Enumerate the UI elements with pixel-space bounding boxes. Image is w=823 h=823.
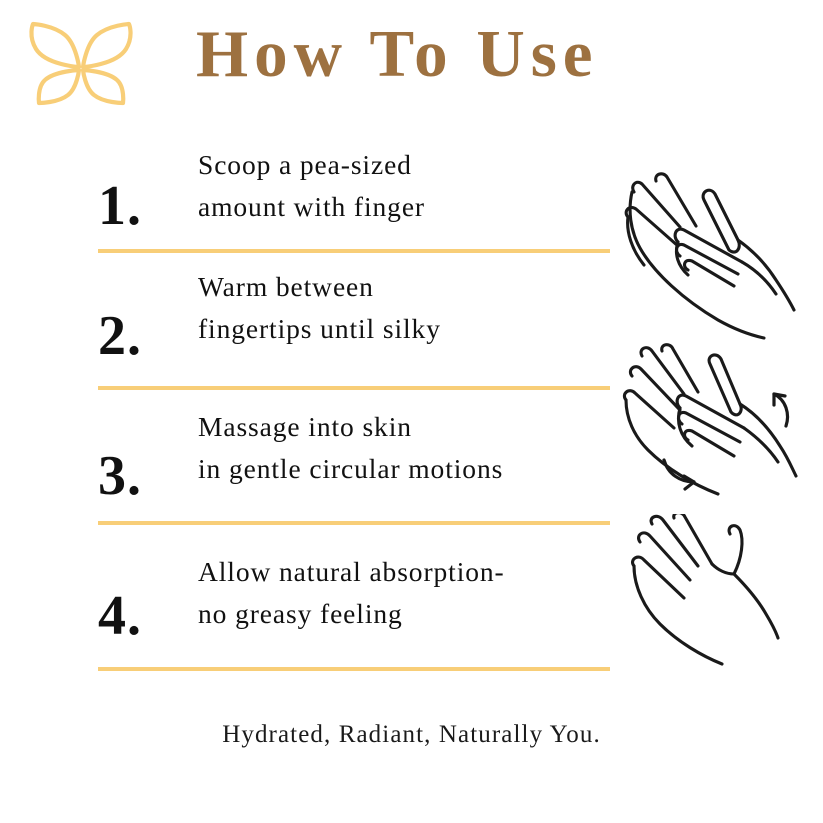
how-to-use-infographic: How To Use 1. Scoop a pea-sized amount w… — [0, 0, 823, 823]
step-text-line2: no greasy feeling — [198, 593, 505, 635]
open-hand-absorbed-icon — [618, 514, 818, 686]
page-title: How To Use — [196, 21, 599, 88]
step-text: Scoop a pea-sized amount with finger — [198, 144, 425, 228]
step-text-line1: Scoop a pea-sized — [198, 144, 425, 186]
step-item: 2. Warm between fingertips until silky — [0, 246, 640, 386]
divider — [98, 667, 610, 671]
step-text-line2: in gentle circular motions — [198, 448, 503, 490]
step-text-line1: Warm between — [198, 266, 441, 308]
step-item: 1. Scoop a pea-sized amount with finger — [0, 136, 640, 246]
butterfly-icon — [22, 18, 140, 118]
step-text-line2: amount with finger — [198, 186, 425, 228]
step-text: Massage into skin in gentle circular mot… — [198, 406, 503, 490]
step-text-line1: Massage into skin — [198, 406, 503, 448]
step-text-line2: fingertips until silky — [198, 308, 441, 350]
steps-list: 1. Scoop a pea-sized amount with finger … — [0, 136, 640, 666]
step-item: 4. Allow natural absorption- no greasy f… — [0, 526, 640, 666]
step-number: 3. — [98, 448, 142, 504]
step-item: 3. Massage into skin in gentle circular … — [0, 386, 640, 526]
step-text: Warm between fingertips until silky — [198, 266, 441, 350]
step-text-line1: Allow natural absorption- — [198, 551, 505, 593]
step-text: Allow natural absorption- no greasy feel… — [198, 551, 505, 635]
hands-applying-cream-icon — [618, 170, 818, 342]
divider — [98, 521, 610, 525]
step-number: 2. — [98, 308, 142, 364]
illustration-column — [618, 170, 823, 670]
footer-tagline: Hydrated, Radiant, Naturally You. — [0, 721, 823, 749]
step-number: 4. — [98, 588, 142, 644]
step-number: 1. — [98, 178, 142, 234]
header: How To Use — [0, 0, 823, 130]
hands-rubbing-circular-motion-icon — [618, 342, 818, 514]
